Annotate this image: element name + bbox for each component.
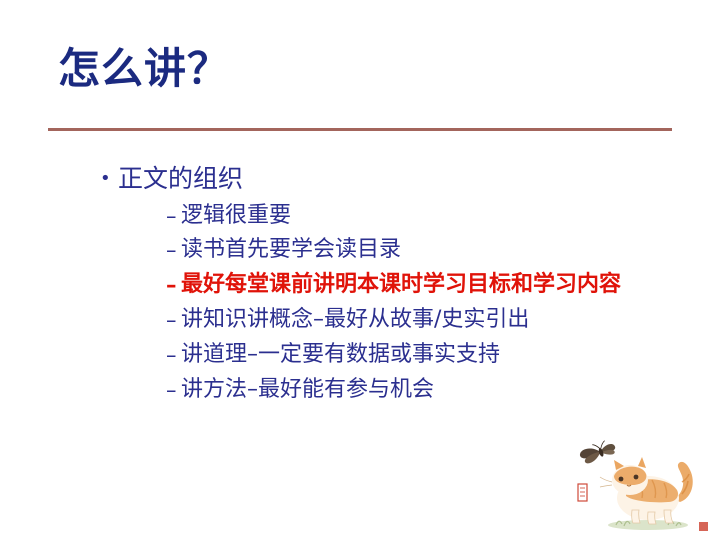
seal-stamp-left [578,484,587,501]
sub-bullet-list: – 逻辑很重要 – 读书首先要学会读目录 – 最好每堂课前讲明本课时学习目标和学… [0,199,720,409]
bullet-level2-label: 读书首先要学会读目录 [181,237,401,262]
bullet-item-level2-highlighted: – 最好每堂课前讲明本课时学习目标和学习内容 [0,268,720,303]
dash-marker-icon: – [166,373,177,408]
title-divider [48,128,672,131]
seal-stamp-corner [699,522,708,531]
bullet-item-level1: • 正文的组织 [0,164,720,195]
slide-body: • 正文的组织 – 逻辑很重要 – 读书首先要学会读目录 – 最好每堂课前讲明本… [0,164,720,408]
dash-marker-icon: – [166,268,177,303]
dash-marker-icon: – [166,199,177,234]
bullet-item-level2: – 逻辑很重要 [0,199,720,234]
presentation-slide: 怎么讲？ • 正文的组织 – 逻辑很重要 – 读书首先要学会读目录 – 最好每堂… [0,0,720,540]
bullet-dot-icon: • [100,164,111,194]
dash-marker-icon: – [166,338,177,373]
bullet-level2-label: 最好每堂课前讲明本课时学习目标和学习内容 [181,272,621,297]
bullet-item-level2: – 讲道理–一定要有数据或事实支持 [0,338,720,373]
bullet-level2-label: 讲道理–一定要有数据或事实支持 [181,342,500,367]
painting-artwork-icon [572,432,714,534]
bullet-level2-label: 逻辑很重要 [181,203,291,228]
dash-marker-icon: – [166,233,177,268]
dash-marker-icon: – [166,303,177,338]
bullet-item-level2: – 讲方法–最好能有参与机会 [0,373,720,408]
slide-title: 怎么讲？ [58,47,230,91]
bullet-level2-label: 讲知识讲概念–最好从故事/史实引出 [181,307,529,332]
bullet-item-level2: – 讲知识讲概念–最好从故事/史实引出 [0,303,720,338]
bullet-level1-label: 正文的组织 [118,164,243,193]
cat-and-butterfly-painting [572,432,714,534]
bullet-level2-label: 讲方法–最好能有参与机会 [181,377,434,402]
bullet-item-level2: – 读书首先要学会读目录 [0,233,720,268]
